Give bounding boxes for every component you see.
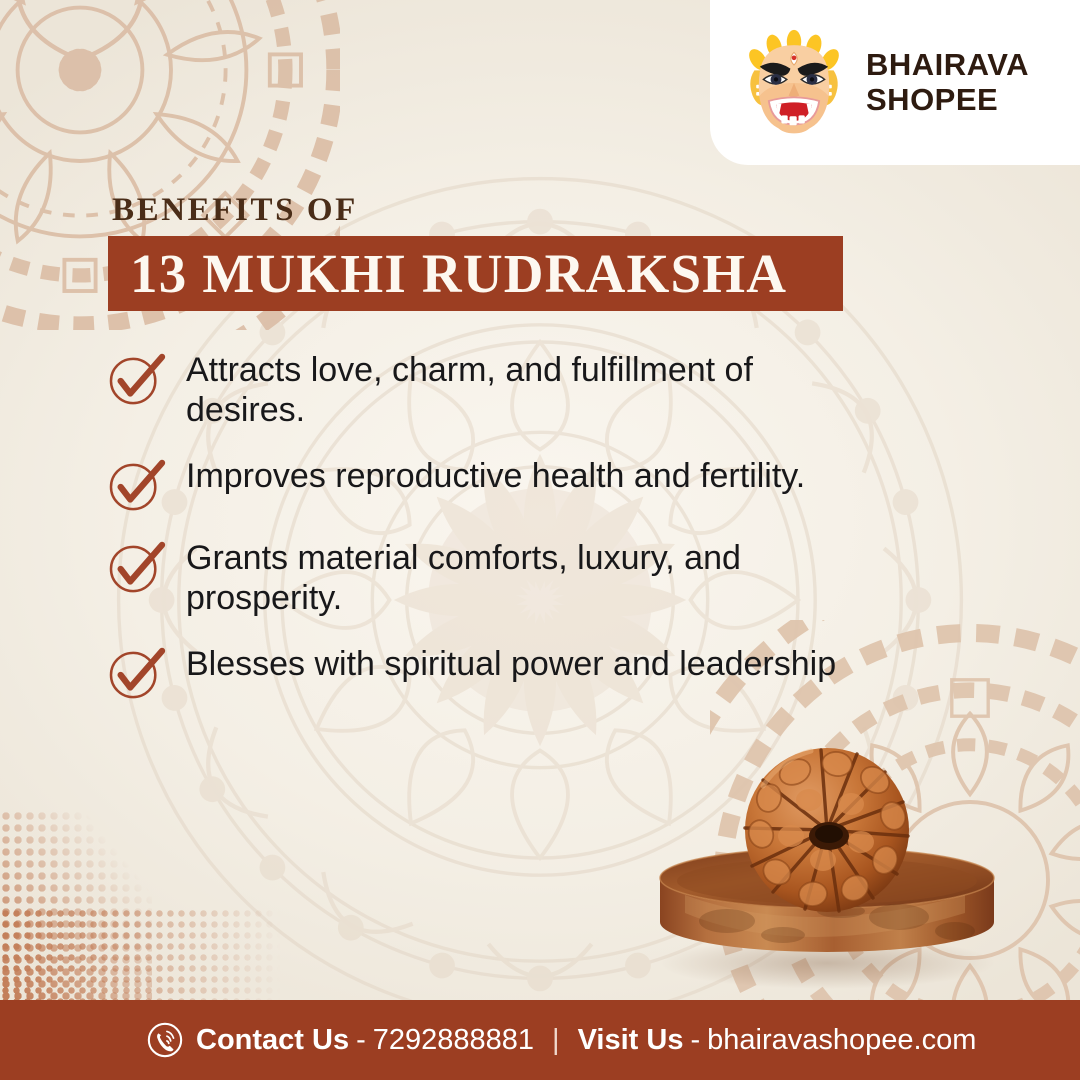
brand-name: BHAIRAVA SHOPEE xyxy=(866,48,1029,117)
benefits-list: Attracts love, charm, and fulfillment of… xyxy=(108,350,878,700)
check-circle-icon xyxy=(108,648,166,700)
list-item: Attracts love, charm, and fulfillment of… xyxy=(108,350,878,430)
page-title: 13 MUKHI RUDRAKSHA xyxy=(130,242,787,305)
list-item: Blesses with spiritual power and leaders… xyxy=(108,644,878,700)
brand-logo-card[interactable]: BHAIRAVA SHOPEE xyxy=(710,0,1080,165)
footer-text: Contact Us - 7292888881 | Visit Us - bha… xyxy=(196,1024,976,1057)
bhairava-face-icon xyxy=(740,29,848,137)
contact-dash: - xyxy=(356,1024,366,1057)
poster-canvas: BHAIRAVA SHOPEE BENEFITS OF 13 MUKHI RUD… xyxy=(0,0,1080,1080)
list-item-text: Improves reproductive health and fertili… xyxy=(186,456,805,496)
contact-label: Contact Us xyxy=(196,1024,349,1057)
brand-name-line2: SHOPEE xyxy=(866,83,1029,118)
heading-kicker: BENEFITS OF xyxy=(112,192,358,229)
brand-name-line1: BHAIRAVA xyxy=(866,48,1029,83)
rudraksha-product-image xyxy=(655,735,1000,1000)
check-circle-icon xyxy=(108,460,166,512)
footer-contact-bar: Contact Us - 7292888881 | Visit Us - bha… xyxy=(0,1000,1080,1080)
list-item-text: Blesses with spiritual power and leaders… xyxy=(186,644,836,684)
halftone-dots-horizontal xyxy=(0,908,330,1000)
visit-label: Visit Us xyxy=(578,1024,684,1057)
contact-phone-value[interactable]: 7292888881 xyxy=(373,1024,534,1057)
list-item-text: Grants material comforts, luxury, and pr… xyxy=(186,538,866,618)
check-circle-icon xyxy=(108,542,166,594)
visit-website-value[interactable]: bhairavashopee.com xyxy=(707,1024,976,1057)
list-item: Improves reproductive health and fertili… xyxy=(108,456,878,512)
phone-call-icon[interactable] xyxy=(146,1021,184,1059)
list-item: Grants material comforts, luxury, and pr… xyxy=(108,538,878,618)
check-circle-icon xyxy=(108,354,166,406)
footer-separator: | xyxy=(552,1024,560,1057)
title-band: 13 MUKHI RUDRAKSHA xyxy=(108,236,843,311)
visit-dash: - xyxy=(690,1024,700,1057)
list-item-text: Attracts love, charm, and fulfillment of… xyxy=(186,350,866,430)
